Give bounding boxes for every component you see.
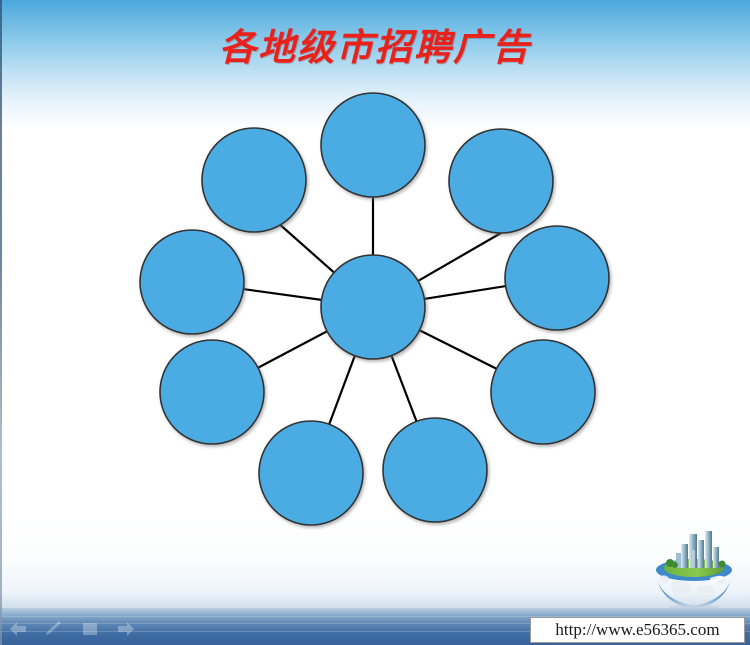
node-bottom-right-low[interactable] — [383, 418, 487, 522]
slideshow-nav-controls[interactable] — [8, 618, 158, 640]
arrow-left-icon[interactable] — [8, 621, 28, 637]
globe-reflection — [668, 605, 720, 608]
node-top-right[interactable] — [449, 129, 553, 233]
node-bottom-right[interactable] — [491, 340, 595, 444]
node-bottom-left[interactable] — [160, 340, 264, 444]
node-top[interactable] — [321, 93, 425, 197]
radial-diagram — [0, 0, 750, 645]
watermark-url: http://www.e56365.com — [530, 617, 745, 643]
globe-city-graphic — [648, 520, 740, 608]
pen-icon[interactable] — [44, 621, 64, 637]
center-node[interactable] — [321, 255, 425, 359]
arrow-right-icon[interactable] — [116, 621, 136, 637]
node-group — [140, 93, 609, 525]
node-top-left[interactable] — [202, 128, 306, 232]
node-bottom-left-low[interactable] — [259, 421, 363, 525]
node-left[interactable] — [140, 230, 244, 334]
square-icon[interactable] — [80, 621, 100, 637]
node-right[interactable] — [505, 226, 609, 330]
slide-canvas: 各地级市招聘广告 — [0, 0, 750, 645]
